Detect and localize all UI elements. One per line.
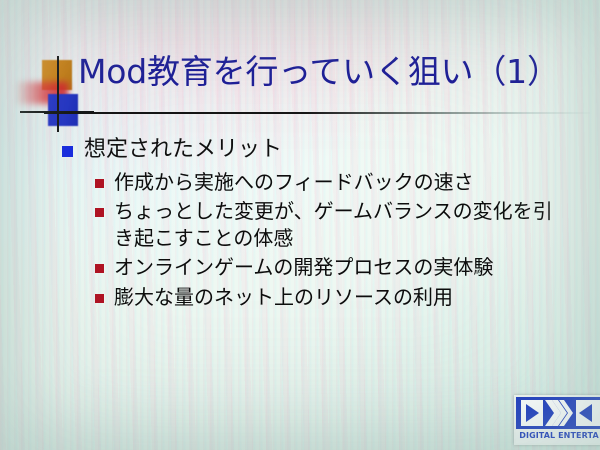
bullet-item-level2: 作成から実施へのフィードバックの速さ xyxy=(95,169,582,196)
presentation-slide: Mod教育を行っていく狙い（1） 想定されたメリット 作成から実施へのフィードバ… xyxy=(0,0,600,450)
title-underline-rule xyxy=(44,112,590,114)
bullet-sublist: 作成から実施へのフィードバックの速さ ちょっとした変更が、ゲームバランスの変化を… xyxy=(95,169,582,311)
sub-bullet-text: ちょっとした変更が、ゲームバランスの変化を引き起こすことの体感 xyxy=(114,198,566,251)
decoration-vertical-line xyxy=(57,56,59,132)
bullet-marker-square-icon xyxy=(62,146,73,157)
bullet-item-level2: 膨大な量のネット上のリソースの利用 xyxy=(95,284,582,311)
sub-bullet-text: 作成から実施へのフィードバックの速さ xyxy=(114,169,474,196)
organization-logo: DIGITAL ENTERTA xyxy=(514,395,600,445)
sub-bullet-text: 膨大な量のネット上のリソースの利用 xyxy=(114,284,453,311)
logo-mark-icon xyxy=(516,397,600,429)
bullet-text: 想定されたメリット xyxy=(84,136,282,165)
bullet-item-level1: 想定されたメリット xyxy=(62,136,582,165)
slide-body-content: 想定されたメリット 作成から実施へのフィードバックの速さ ちょっとした変更が、ゲ… xyxy=(62,136,582,314)
sub-bullet-marker-square-icon xyxy=(95,264,104,273)
sub-bullet-marker-square-icon xyxy=(95,179,104,188)
blue-square-icon xyxy=(48,94,78,126)
sub-bullet-text: オンラインゲームの開発プロセスの実体験 xyxy=(114,254,493,281)
sub-bullet-marker-square-icon xyxy=(95,208,104,217)
sub-bullet-marker-square-icon xyxy=(95,294,104,303)
bullet-item-level2: ちょっとした変更が、ゲームバランスの変化を引き起こすことの体感 xyxy=(95,198,582,251)
slide-title: Mod教育を行っていく狙い（1） xyxy=(78,54,588,91)
logo-caption-text: DIGITAL ENTERTA xyxy=(516,429,600,443)
bullet-item-level2: オンラインゲームの開発プロセスの実体験 xyxy=(95,254,582,281)
